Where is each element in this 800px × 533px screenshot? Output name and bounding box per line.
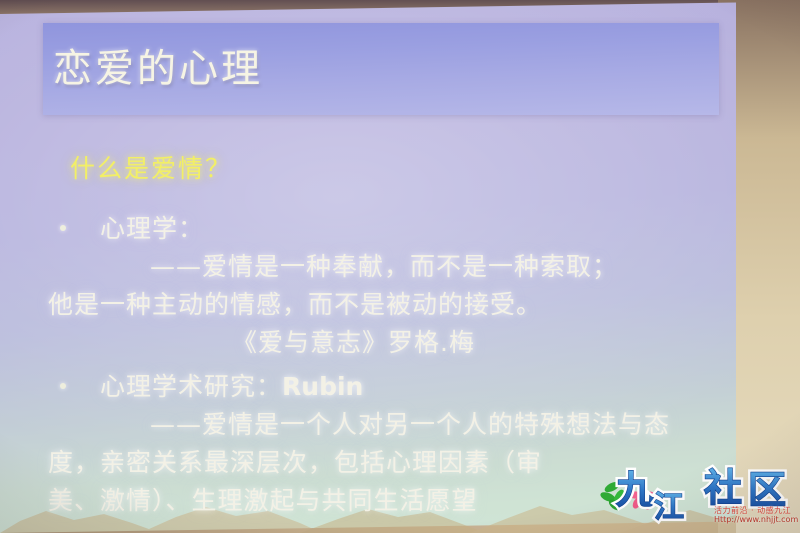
body-line: ——爱情是一种奉献，而不是一种索取； — [0, 248, 736, 286]
projection-screen: 恋爱的心理 什么是爱情？ 心理学： ——爱情是一种奉献，而不是一种索取； 他是一… — [0, 2, 736, 533]
citation-line: 《爱与意志》罗格.梅 — [0, 324, 736, 362]
slide-title-band: 恋爱的心理 — [43, 23, 719, 115]
bullet-label: 心理学： — [100, 214, 204, 243]
body-line: 他是一种主动的情感，而不是被动的接受。 — [0, 286, 736, 324]
bullet-item-psychology: 心理学： — [0, 210, 736, 248]
slide-title: 恋爱的心理 — [53, 38, 263, 94]
bullet-item-academic-research: 心理学术研究：Rubin — [0, 368, 736, 406]
bullet-label: 心理学术研究： — [100, 372, 282, 401]
watermark-url: Http://www.nhjjt.com — [714, 515, 798, 524]
bullet-label-emphasis: Rubin — [282, 372, 363, 401]
svg-text:社: 社 — [704, 466, 742, 510]
projected-slide-photo: 恋爱的心理 什么是爱情？ 心理学： ——爱情是一种奉献，而不是一种索取； 他是一… — [0, 0, 800, 533]
forum-watermark: 九 九 江 江 社 社 区 区 活力前沿 · 动感九江 Http://www.n… — [596, 461, 800, 533]
svg-text:江: 江 — [654, 490, 684, 525]
body-line: ——爱情是一个人对另一个人的特殊想法与态 — [0, 406, 736, 444]
svg-text:九: 九 — [616, 468, 654, 512]
bullet-dot-icon — [60, 383, 66, 389]
slide-subtitle: 什么是爱情？ — [70, 149, 232, 185]
bullet-dot-icon — [60, 225, 66, 231]
